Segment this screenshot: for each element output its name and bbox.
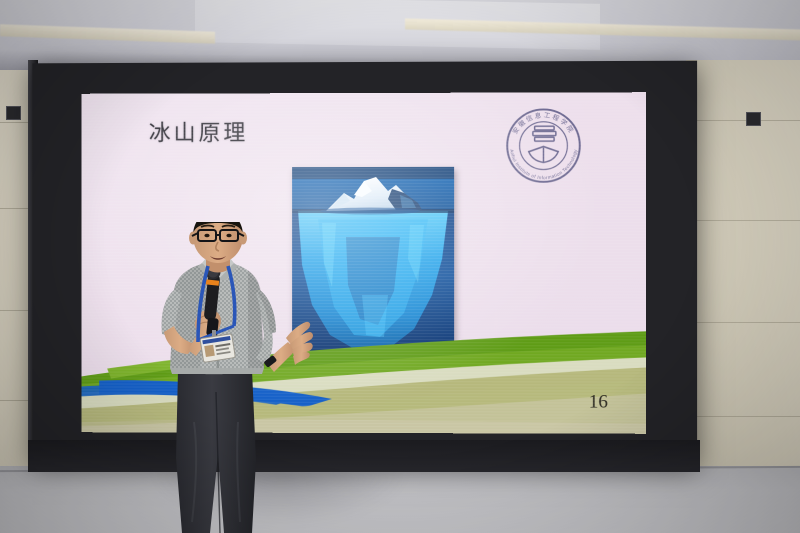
presentation-photo-scene: 冰山原理 安徽信息工程学 <box>0 0 800 533</box>
presenter <box>140 222 315 533</box>
wall-outlet-right <box>746 112 761 126</box>
stage-base <box>28 440 700 472</box>
university-seal-logo: 安徽信息工程学院 Anhui Institute of Information … <box>499 101 587 189</box>
wall-outlet-left <box>6 106 21 120</box>
wall-panel-right <box>686 60 800 490</box>
slide-title: 冰山原理 <box>149 115 248 147</box>
slide-page-number: 16 <box>589 391 608 413</box>
